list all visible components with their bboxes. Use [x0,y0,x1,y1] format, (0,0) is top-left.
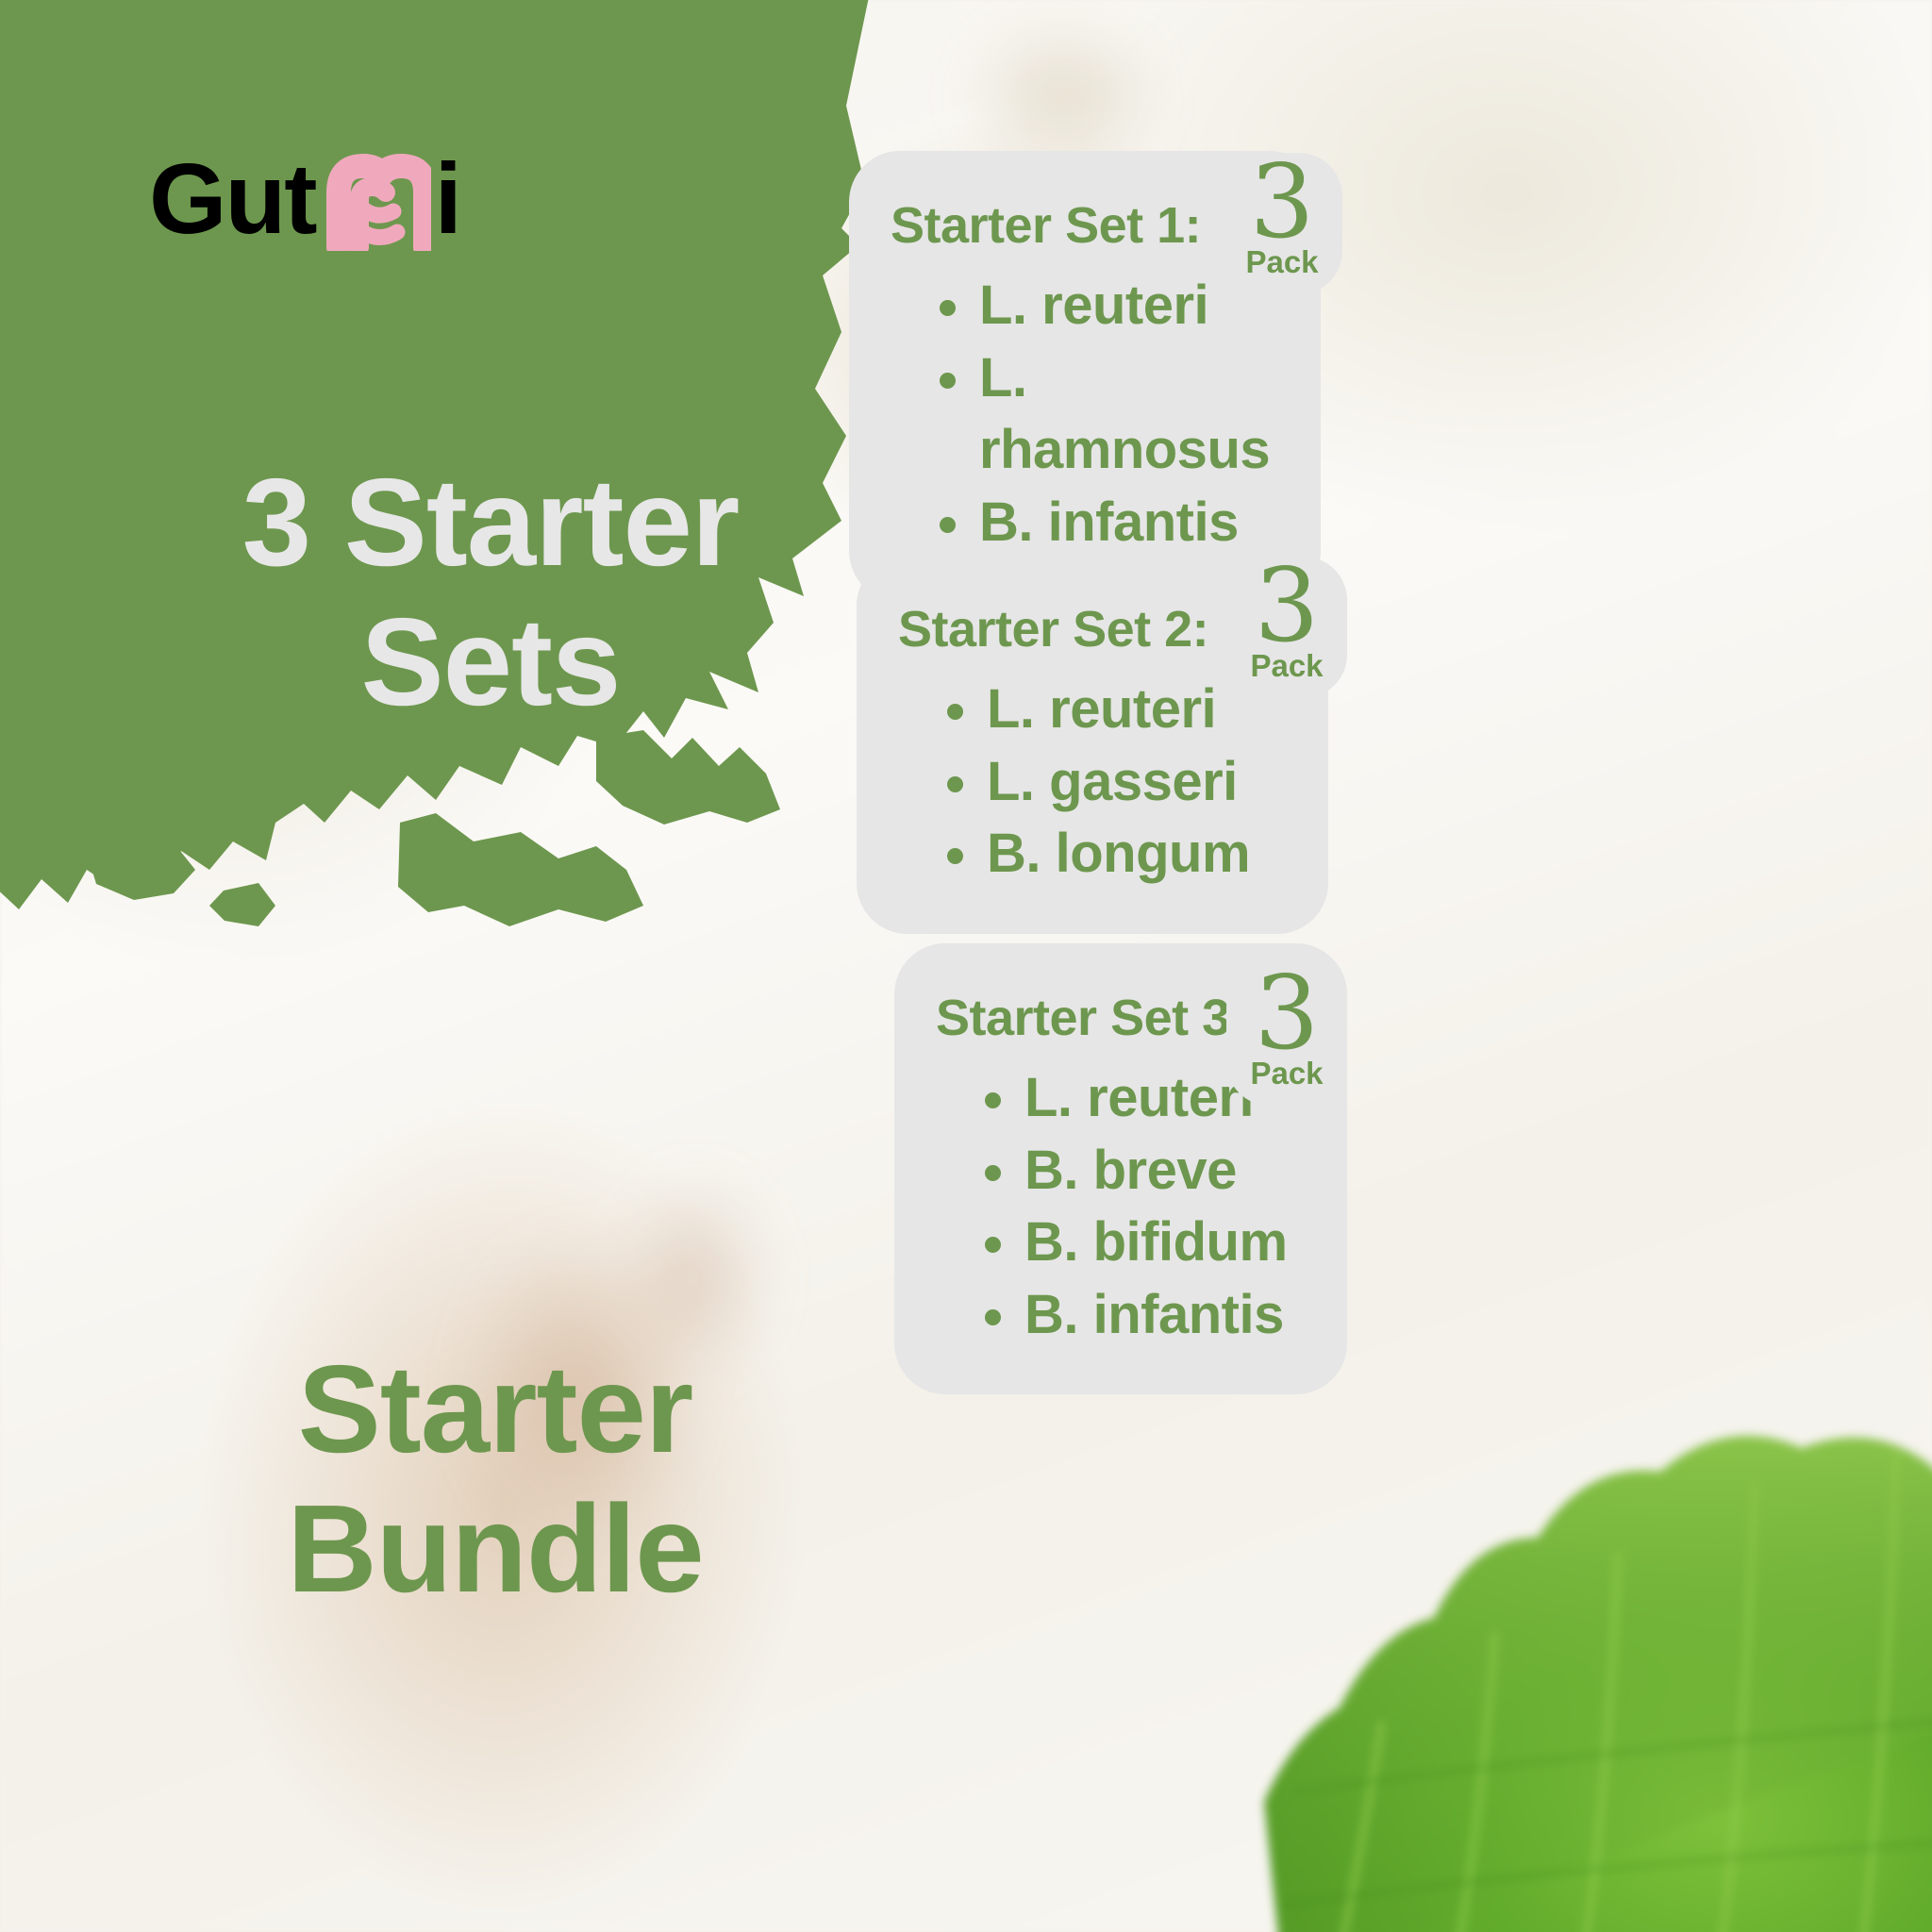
logo-text-prefix: Gut [149,149,316,249]
brand-logo[interactable]: Gut i [149,149,460,249]
list-item: B. breve [985,1135,1309,1207]
mint-leaf-image [1141,1396,1932,1932]
pack-count-2: 3 [1255,558,1320,656]
starter-set-2-strain-list: L. reuteri L. gasseri B. longum [898,674,1291,891]
pack-label-2: Pack [1250,650,1323,681]
list-item: L. gasseri [947,746,1291,819]
pack-label-3: Pack [1250,1058,1323,1089]
list-item: L. reuteri [940,270,1283,342]
list-item: B. bifidum [985,1207,1309,1279]
pack-badge-2: 3 Pack [1226,557,1347,698]
pack-count-1: 3 [1250,155,1315,252]
pack-count-3: 3 [1255,966,1320,1063]
list-item: B. longum [947,818,1291,891]
hero-line-1: 3 Starter [113,453,868,592]
list-item: B. infantis [940,487,1283,559]
list-item: B. infantis [985,1279,1309,1352]
pack-badge-3: 3 Pack [1226,964,1347,1106]
intestine-icon [320,153,431,251]
product-title-line-1: Starter [142,1340,849,1479]
list-item: L. rhamnosus [940,342,1283,487]
product-title: Starter Bundle [142,1340,849,1619]
hero-headline: 3 Starter Sets [113,453,868,732]
starter-set-3-strain-list: L. reuteri B. breve B. bifidum B. infant… [936,1062,1309,1351]
pack-label-1: Pack [1245,246,1318,277]
pack-badge-1: 3 Pack [1222,153,1342,294]
starter-set-1-strain-list: L. reuteri L. rhamnosus B. infantis [891,270,1283,558]
logo-text-suffix: i [435,149,460,249]
product-title-line-2: Bundle [142,1479,849,1619]
hero-line-2: Sets [113,592,868,732]
